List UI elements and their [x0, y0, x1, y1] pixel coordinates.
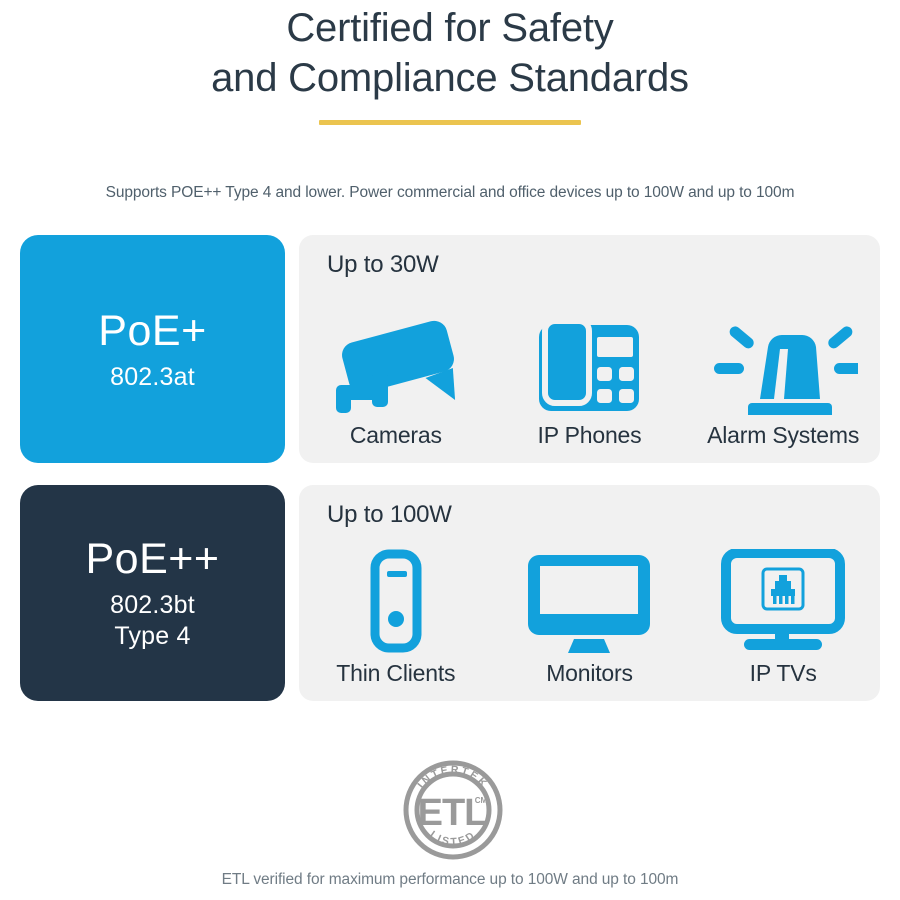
page-title-line-1: Certified for Safety: [0, 4, 900, 52]
device-item-ip-phones: IP Phones: [499, 311, 679, 449]
tier-row-poe-plus: PoE+ 802.3at Up to 30W: [20, 235, 880, 463]
device-item-thin-clients: Thin Clients: [306, 549, 486, 687]
badge-standard-poe-plus: 802.3at: [110, 362, 195, 393]
subtitle-text: Supports POE++ Type 4 and lower. Power c…: [0, 182, 900, 204]
etl-mark-suffix: CM: [475, 796, 488, 805]
badge-card-poe-plus: PoE+ 802.3at: [20, 235, 285, 463]
device-grid-30w: Cameras IP Phones: [299, 311, 880, 449]
device-item-monitors: Monitors: [499, 549, 679, 687]
device-label-ip-phones: IP Phones: [538, 421, 642, 449]
tier-row-poe-plus-plus: PoE++ 802.3bt Type 4 Up to 100W Thin Cli…: [20, 485, 880, 701]
device-label-monitors: Monitors: [546, 659, 633, 687]
power-label-30w: Up to 30W: [327, 251, 439, 279]
security-camera-icon: [330, 311, 462, 415]
badge-card-poe-plus-plus: PoE++ 802.3bt Type 4: [20, 485, 285, 701]
badge-title-poe-plus: PoE+: [98, 306, 206, 356]
ip-tv-icon: [718, 549, 848, 653]
etl-intertek-listed-logo: INTERTEK LISTED ETL CM: [398, 755, 508, 865]
device-label-alarm-systems: Alarm Systems: [707, 421, 859, 449]
ip-phone-icon: [533, 311, 645, 415]
device-panel-100w: Up to 100W Thin Clients: [299, 485, 880, 701]
badge-type-poe-plus-plus: Type 4: [114, 621, 190, 652]
page-title-line-2: and Compliance Standards: [0, 54, 900, 102]
page-header: Certified for Safety and Compliance Stan…: [0, 0, 900, 125]
device-item-cameras: Cameras: [306, 311, 486, 449]
device-label-thin-clients: Thin Clients: [336, 659, 455, 687]
etl-top-arc-text: INTERTEK: [415, 764, 490, 791]
title-underline-rule: [319, 120, 581, 125]
thin-client-icon: [361, 549, 431, 653]
device-label-ip-tvs: IP TVs: [750, 659, 817, 687]
power-label-100w: Up to 100W: [327, 501, 452, 529]
device-item-alarm-systems: Alarm Systems: [693, 311, 873, 449]
badge-title-poe-plus-plus: PoE++: [86, 534, 220, 584]
monitor-icon: [524, 549, 654, 653]
device-grid-100w: Thin Clients Monitors: [299, 549, 880, 687]
device-item-ip-tvs: IP TVs: [693, 549, 873, 687]
alarm-siren-icon: [708, 311, 858, 415]
badge-standard-poe-plus-plus: 802.3bt: [110, 590, 195, 621]
device-label-cameras: Cameras: [350, 421, 442, 449]
device-panel-30w: Up to 30W Cameras: [299, 235, 880, 463]
certification-note: ETL verified for maximum performance up …: [0, 871, 900, 889]
